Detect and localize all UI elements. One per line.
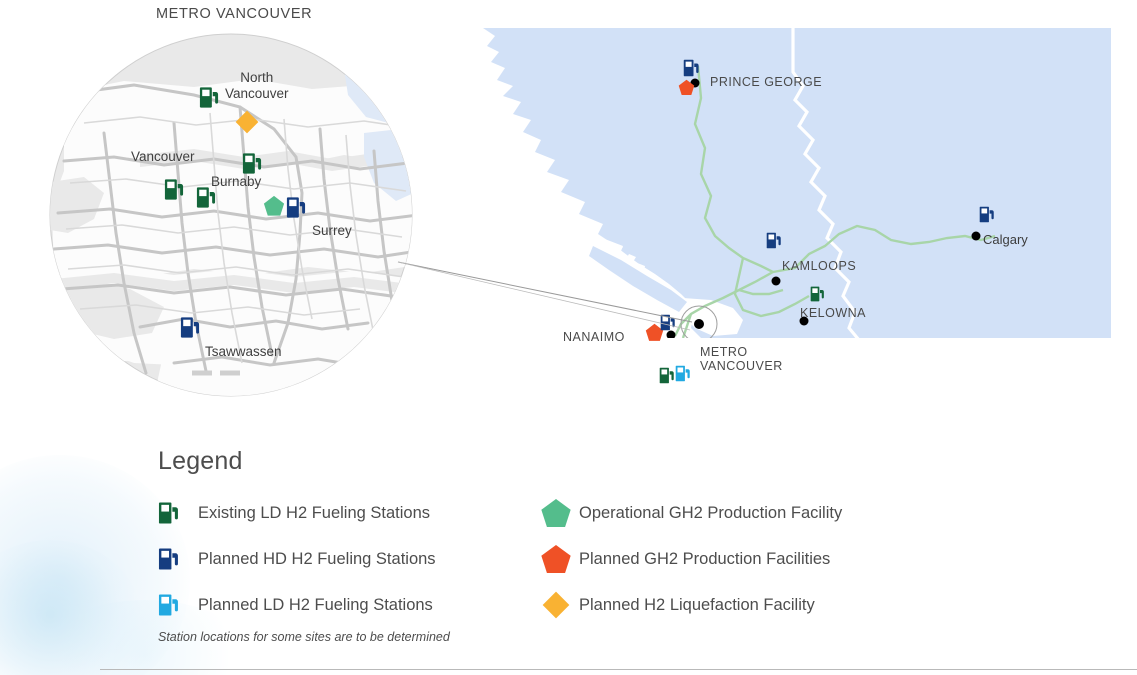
fuel-pump-icon-planned-hd bbox=[158, 546, 198, 572]
legend-title: Legend bbox=[158, 447, 988, 476]
map-marker-planned-ld-metro-vancouver[interactable] bbox=[675, 364, 692, 383]
legend-column-left: Existing LD H2 Fueling Stations Planned … bbox=[158, 490, 558, 644]
dot-metro-vancouver bbox=[694, 319, 704, 329]
legend-existing-ld[interactable]: Existing LD H2 Fueling Stations bbox=[158, 490, 558, 536]
legend-operational-gh2[interactable]: Operational GH2 Production Facility bbox=[533, 490, 973, 536]
map-marker-planned-hd-kamloops[interactable] bbox=[766, 231, 783, 250]
label-surrey: Surrey bbox=[312, 223, 352, 239]
label-burnaby: Burnaby bbox=[211, 174, 261, 190]
pentagon-icon-operational-gh2 bbox=[533, 497, 579, 529]
label-calgary: Calgary bbox=[983, 233, 1028, 248]
fuel-pump-icon-existing-ld bbox=[158, 500, 198, 526]
map-marker-existing-ld-metro-vancouver[interactable] bbox=[659, 366, 676, 385]
inset-marker-existing-ld-north-vancouver[interactable] bbox=[199, 85, 221, 110]
map-marker-planned-hd-prince-george[interactable] bbox=[683, 58, 701, 78]
label-nanaimo: NANAIMO bbox=[563, 330, 625, 344]
inset-marker-existing-ld-vancouver-west[interactable] bbox=[164, 177, 186, 202]
label-vancouver: Vancouver bbox=[131, 149, 195, 165]
label-kelowna: KELOWNA bbox=[800, 306, 866, 320]
inset-marker-existing-ld-burnaby[interactable] bbox=[242, 151, 264, 176]
legend-planned-hd[interactable]: Planned HD H2 Fueling Stations bbox=[158, 536, 558, 582]
legend-planned-gh2[interactable]: Planned GH2 Production Facilities bbox=[533, 536, 973, 582]
background-wash-b bbox=[0, 540, 140, 675]
dot-kamloops bbox=[772, 277, 781, 286]
label-kamloops: KAMLOOPS bbox=[782, 259, 856, 273]
legend-planned-ld[interactable]: Planned LD H2 Fueling Stations bbox=[158, 582, 558, 628]
label-north-vancouver: North Vancouver bbox=[225, 70, 289, 101]
legend-column-right: Operational GH2 Production Facility Plan… bbox=[533, 490, 973, 628]
map-marker-planned-hd-nanaimo[interactable] bbox=[660, 313, 677, 332]
dot-calgary bbox=[972, 232, 981, 241]
map-marker-planned-gh2-prince-george[interactable] bbox=[678, 79, 695, 96]
inset-marker-planned-hd-surrey[interactable] bbox=[286, 195, 308, 220]
legend-note: Station locations for some sites are to … bbox=[158, 630, 558, 644]
label-tsawwassen: Tsawwassen bbox=[205, 344, 282, 360]
inset-marker-planned-liquefaction-facility[interactable] bbox=[234, 109, 260, 135]
fuel-pump-icon-planned-ld bbox=[158, 592, 198, 618]
map-infographic: PRINCE GEORGE KAMLOOPS KELOWNA NANAIMO M… bbox=[0, 0, 1137, 675]
legend-planned-gh2-label: Planned GH2 Production Facilities bbox=[579, 550, 830, 569]
legend-planned-ld-label: Planned LD H2 Fueling Stations bbox=[198, 596, 433, 615]
map-marker-planned-hd-calgary[interactable] bbox=[979, 205, 996, 224]
inset-map-title: METRO VANCOUVER bbox=[156, 6, 312, 22]
diamond-icon-planned-liquefaction bbox=[533, 589, 579, 621]
map-marker-existing-ld-kelowna[interactable] bbox=[810, 285, 826, 303]
legend-operational-gh2-label: Operational GH2 Production Facility bbox=[579, 504, 842, 523]
inset-marker-planned-hd-tsawwassen[interactable] bbox=[180, 315, 202, 340]
bottom-divider bbox=[100, 669, 1137, 670]
label-prince-george: PRINCE GEORGE bbox=[710, 75, 822, 89]
legend-planned-liquefaction[interactable]: Planned H2 Liquefaction Facility bbox=[533, 582, 973, 628]
legend: Legend Existing LD H2 Fueling Stations bbox=[158, 447, 988, 490]
label-metro-vancouver: METRO VANCOUVER bbox=[700, 345, 783, 374]
inset-marker-operational-gh2-facility[interactable] bbox=[263, 195, 285, 217]
legend-planned-liquefaction-label: Planned H2 Liquefaction Facility bbox=[579, 596, 815, 615]
legend-planned-hd-label: Planned HD H2 Fueling Stations bbox=[198, 550, 436, 569]
pentagon-icon-planned-gh2 bbox=[533, 543, 579, 575]
legend-existing-ld-label: Existing LD H2 Fueling Stations bbox=[198, 504, 430, 523]
